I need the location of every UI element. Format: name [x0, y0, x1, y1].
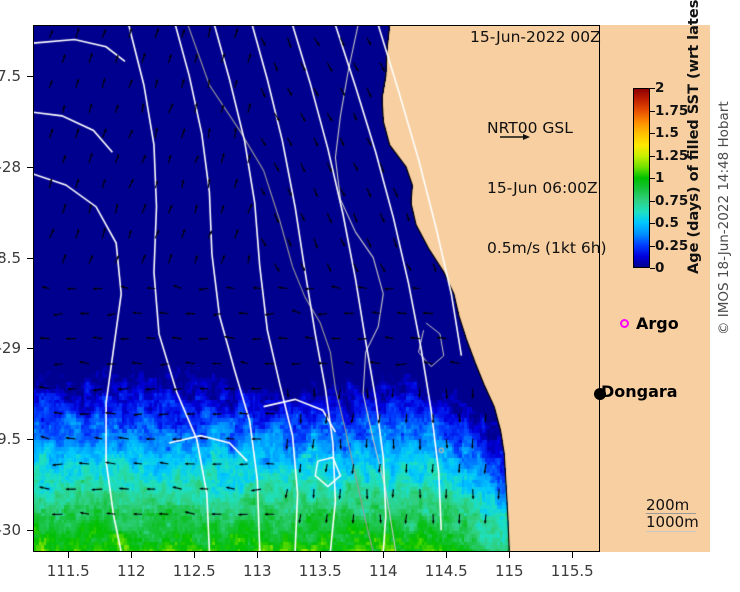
x-tick-label: 114.5 [416, 562, 476, 580]
colorbar-title: Age (days) of filled SST (wrt latest) [686, 82, 702, 274]
y-tick-mark [27, 530, 33, 531]
y-tick-label: -29 [0, 339, 21, 357]
colorbar-tick-label: 1.5 [655, 125, 679, 141]
bathymetry-1000m-label: 1000m [646, 513, 699, 531]
x-tick-mark [383, 552, 384, 558]
colorbar-tick-label: 1 [655, 170, 664, 186]
y-tick-label: -27.5 [0, 67, 21, 85]
y-tick-label: -28 [0, 158, 21, 176]
y-tick-label: -30 [0, 521, 21, 539]
colorbar-tick-label: 0.25 [655, 238, 688, 254]
copyright-credit: © IMOS 18-Jun-2022 14:48 Hobart [716, 101, 732, 335]
y-tick-label: -29.5 [0, 430, 21, 448]
dongara-city-label: Dongara [601, 382, 678, 401]
x-tick-label: 111.5 [38, 562, 98, 580]
x-tick-label: 115 [479, 562, 539, 580]
x-tick-mark [509, 552, 510, 558]
x-tick-label: 113 [227, 562, 287, 580]
y-tick-mark [27, 167, 33, 168]
x-tick-mark [572, 552, 573, 558]
product-info-block: NRT00 GSL 15-Jun 06:00Z 0.5m/s (1kt 6h) [487, 78, 607, 298]
colorbar-tick-label: 0 [655, 260, 664, 276]
x-tick-mark [446, 552, 447, 558]
figure-root: 15-Jun-2022 00Z NRT00 GSL 15-Jun 06:00Z … [0, 0, 740, 592]
colorbar-tick-label: 0.5 [655, 215, 679, 231]
y-tick-mark [27, 76, 33, 77]
x-tick-mark [68, 552, 69, 558]
x-tick-mark [320, 552, 321, 558]
argo-marker-icon [620, 319, 629, 328]
colorbar-ticks [633, 88, 657, 268]
vector-reference-arrow-icon [500, 132, 530, 142]
date-stamp: 15-Jun-2022 00Z [470, 28, 601, 46]
x-tick-label: 112 [101, 562, 161, 580]
x-tick-mark [131, 552, 132, 558]
y-tick-mark [27, 348, 33, 349]
y-tick-mark [27, 439, 33, 440]
bathymetry-200m-label: 200m [646, 496, 689, 514]
bathymetry-1000m-line [646, 531, 696, 532]
x-tick-label: 113.5 [290, 562, 350, 580]
y-tick-label: -28.5 [0, 249, 21, 267]
colorbar-tick-label: 1.25 [655, 148, 688, 164]
x-tick-mark [194, 552, 195, 558]
x-tick-mark [257, 552, 258, 558]
colorbar-tick-label: 1.75 [655, 103, 688, 119]
x-tick-label: 112.5 [164, 562, 224, 580]
argo-legend-label: Argo [636, 314, 679, 333]
x-tick-label: 115.5 [542, 562, 602, 580]
product-valid-time: 15-Jun 06:00Z [487, 178, 607, 198]
x-tick-label: 114 [353, 562, 413, 580]
colorbar-tick-label: 2 [655, 80, 664, 96]
vector-scale-label: 0.5m/s (1kt 6h) [487, 238, 607, 258]
y-tick-mark [27, 258, 33, 259]
colorbar-tick-label: 0.75 [655, 193, 688, 209]
